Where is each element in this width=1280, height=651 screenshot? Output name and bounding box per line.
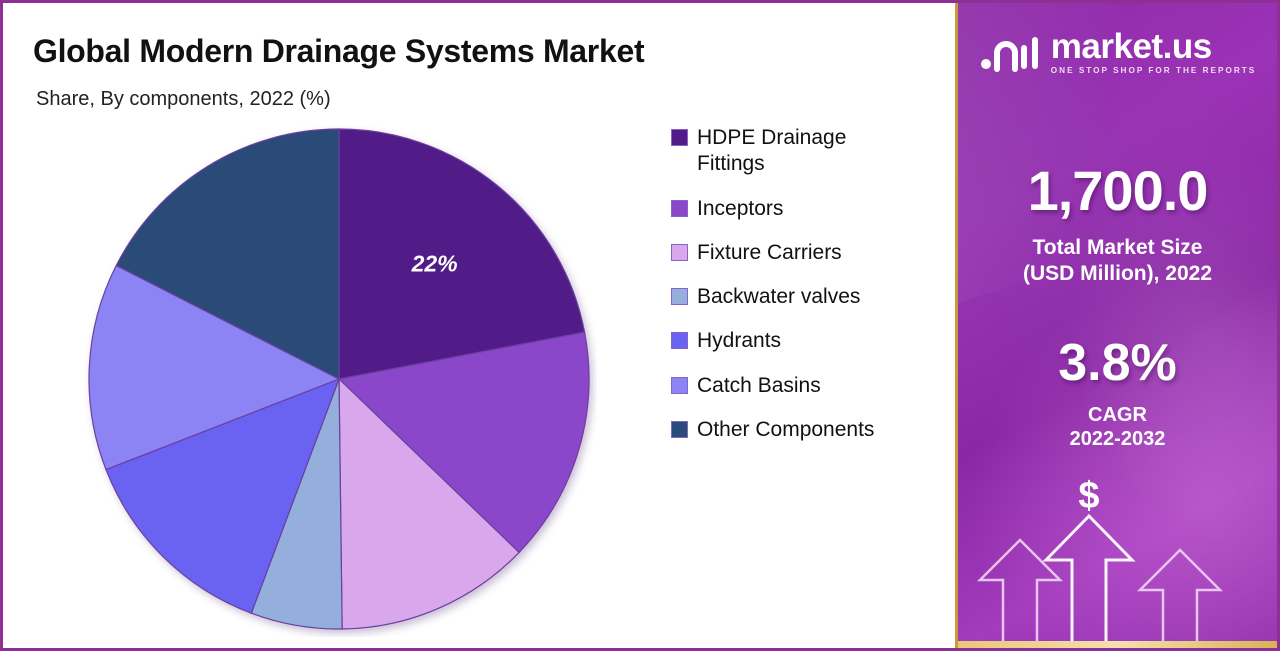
legend-item-label: Backwater valves: [697, 284, 860, 310]
market-size-caption-line2: (USD Million), 2022: [958, 261, 1277, 287]
legend-swatch-icon: [671, 332, 688, 349]
logo-tagline: ONE STOP SHOP FOR THE REPORTS: [1051, 67, 1256, 75]
legend-swatch-icon: [671, 421, 688, 438]
pie-label-group: 22%: [411, 250, 458, 276]
legend-item-label: Inceptors: [697, 196, 783, 222]
pie-slice-group: [89, 129, 589, 629]
chart-panel: Global Modern Drainage Systems Market Sh…: [3, 3, 958, 648]
legend-item-label: Fixture Carriers: [697, 240, 842, 266]
legend-item-label: Other Components: [697, 417, 874, 443]
legend-swatch-icon: [671, 288, 688, 305]
brand-panel: market.us ONE STOP SHOP FOR THE REPORTS …: [955, 3, 1277, 648]
legend-item-label: Catch Basins: [697, 373, 821, 399]
arrow-up-center-icon: [1046, 516, 1132, 648]
legend-swatch-icon: [671, 377, 688, 394]
logo-textblock: market.us ONE STOP SHOP FOR THE REPORTS: [1051, 29, 1256, 75]
logo-wordmark: market.us: [1051, 29, 1256, 64]
legend-item[interactable]: Inceptors: [671, 196, 956, 222]
legend-item-label: Hydrants: [697, 328, 781, 354]
cagr-caption-line1: CAGR: [958, 403, 1277, 427]
cagr-caption-line2: 2022-2032: [958, 427, 1277, 451]
page-title: Global Modern Drainage Systems Market: [33, 33, 644, 70]
market-size-value: 1,700.0: [958, 158, 1277, 223]
pie-chart-svg: 22%: [85, 125, 597, 637]
legend-item[interactable]: HDPE Drainage Fittings: [671, 125, 956, 178]
arrow-up-right-icon: [1140, 550, 1220, 648]
brand-logo[interactable]: market.us ONE STOP SHOP FOR THE REPORTS: [958, 29, 1277, 75]
pie-data-label: 22%: [411, 250, 458, 276]
legend-item[interactable]: Catch Basins: [671, 373, 956, 399]
cagr-caption: CAGR 2022-2032: [958, 403, 1277, 452]
legend-item[interactable]: Fixture Carriers: [671, 240, 956, 266]
legend-swatch-icon: [671, 200, 688, 217]
legend-item[interactable]: Backwater valves: [671, 284, 956, 310]
dollar-sign-icon: $: [1078, 475, 1099, 517]
pie-chart: 22%: [85, 125, 597, 637]
brand-bottom-rule: [958, 641, 1277, 648]
legend: HDPE Drainage Fittings Inceptors Fixture…: [671, 125, 956, 461]
legend-item-label: HDPE Drainage Fittings: [697, 125, 907, 178]
legend-item[interactable]: Hydrants: [671, 328, 956, 354]
growth-arrows-graphic: $: [958, 468, 1277, 648]
chart-subtitle: Share, By components, 2022 (%): [36, 88, 331, 111]
market-size-caption-line1: Total Market Size: [958, 235, 1277, 261]
market-us-logo-icon: [979, 31, 1041, 73]
legend-swatch-icon: [671, 244, 688, 261]
cagr-value: 3.8%: [958, 333, 1277, 393]
market-size-caption: Total Market Size (USD Million), 2022: [958, 235, 1277, 286]
infographic-root: Global Modern Drainage Systems Market Sh…: [0, 0, 1280, 651]
legend-item[interactable]: Other Components: [671, 417, 956, 443]
legend-swatch-icon: [671, 129, 688, 146]
